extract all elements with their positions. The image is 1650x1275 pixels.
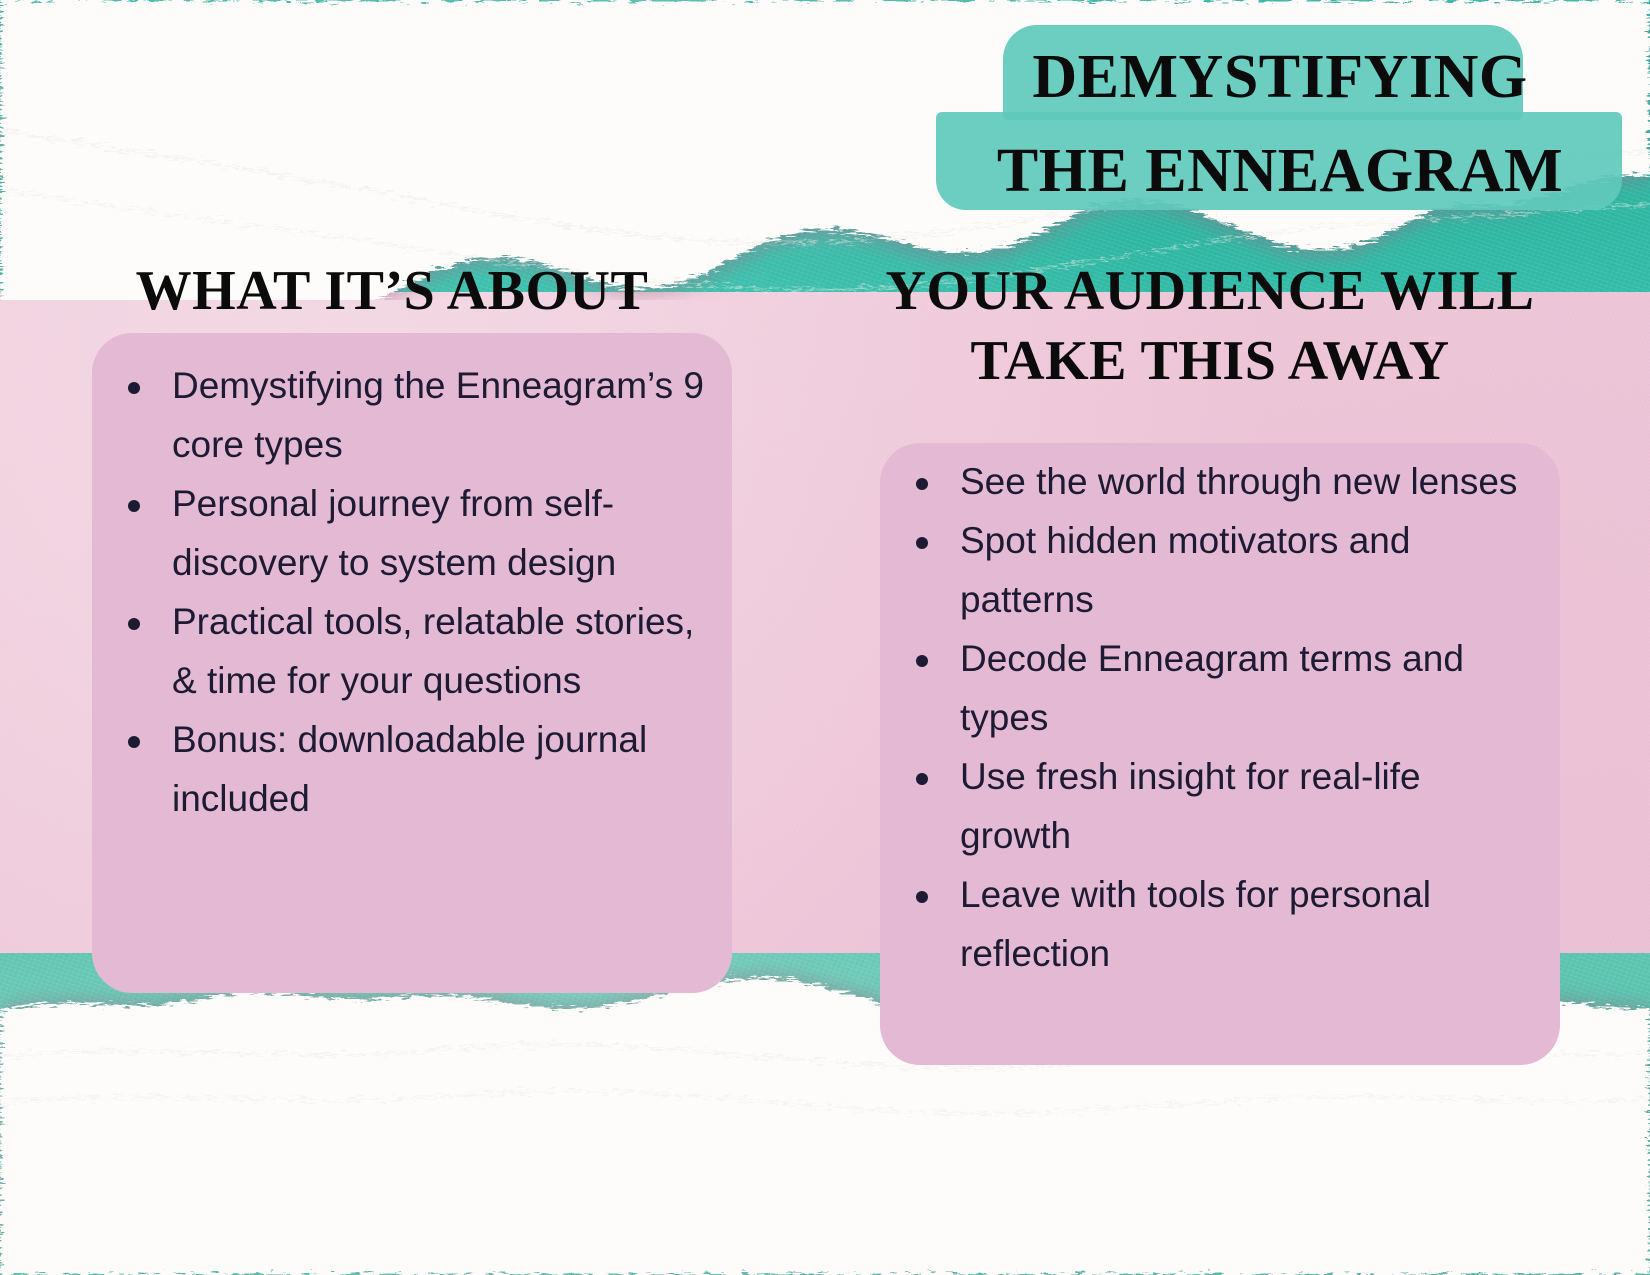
list-item: Personal journey from self-discovery to …: [110, 474, 710, 592]
list-item: Practical tools, relatable stories, & ti…: [110, 592, 710, 710]
poster-canvas: DEMYSTIFYING THE ENNEAGRAM WHAT IT’S ABO…: [0, 0, 1650, 1275]
left-column-heading: WHAT IT’S ABOUT: [62, 256, 722, 326]
list-item: Leave with tools for personal reflection: [898, 865, 1528, 983]
list-item: Demystifying the Enneagram’s 9 core type…: [110, 356, 710, 474]
page-title: DEMYSTIFYING THE ENNEAGRAM: [930, 30, 1630, 218]
left-bullet-list: Demystifying the Enneagram’s 9 core type…: [110, 356, 710, 828]
right-bullet-list: See the world through new lenses Spot hi…: [898, 452, 1528, 983]
list-item: Use fresh insight for real-life growth: [898, 747, 1528, 865]
list-item: Decode Enneagram terms and types: [898, 629, 1528, 747]
page-title-line-2: THE ENNEAGRAM: [930, 124, 1630, 218]
list-item: Spot hidden motivators and patterns: [898, 511, 1528, 629]
page-title-line-1: DEMYSTIFYING: [930, 30, 1630, 124]
right-column-heading: YOUR AUDIENCE WILL TAKE THIS AWAY: [830, 256, 1590, 396]
list-item: Bonus: downloadable journal included: [110, 710, 710, 828]
list-item: See the world through new lenses: [898, 452, 1528, 511]
